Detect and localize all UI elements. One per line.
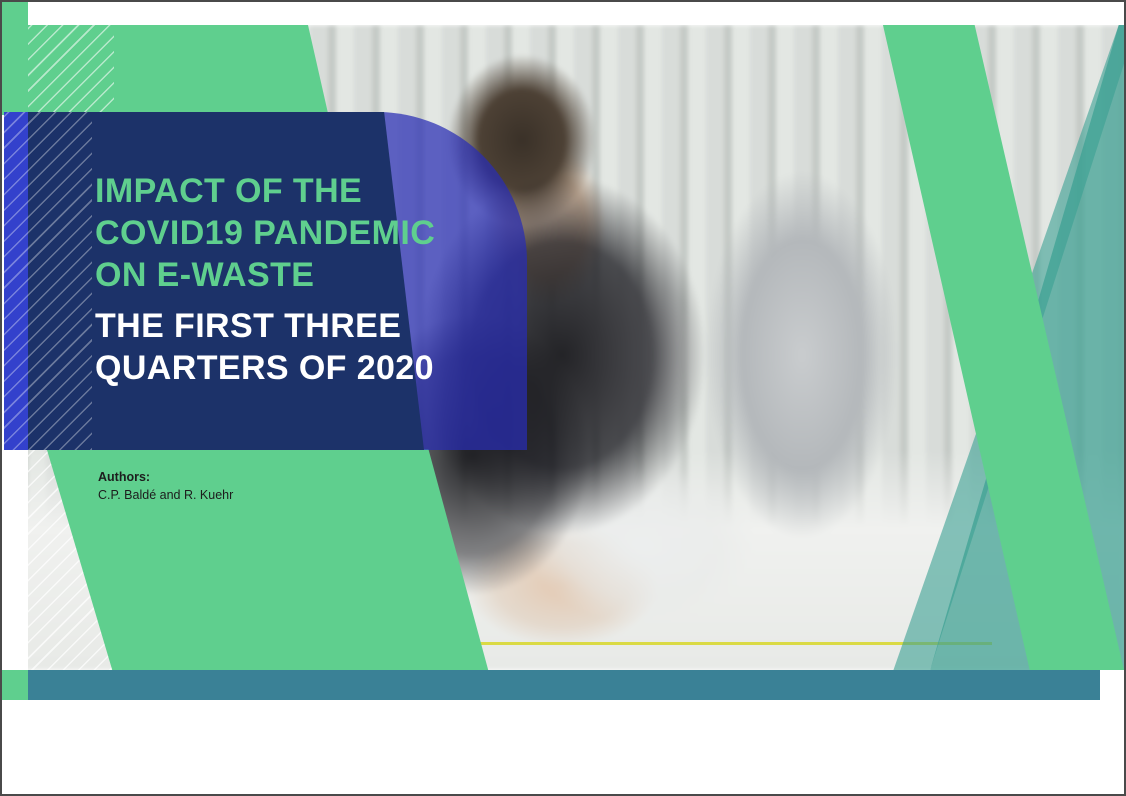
subtitle-line-2: QUARTERS OF 2020 bbox=[95, 347, 525, 389]
footer-logo-bar: unitar United Nations Institute for Trai… bbox=[2, 700, 1124, 794]
bottom-left-green-chip bbox=[2, 670, 28, 700]
title-line-1: IMPACT OF THE bbox=[95, 170, 525, 212]
subtitle-line-1: THE FIRST THREE bbox=[95, 305, 525, 347]
report-cover-page: IMPACT OF THE COVID19 PANDEMIC ON E-WAST… bbox=[0, 0, 1126, 796]
top-left-green-chip bbox=[2, 2, 28, 25]
authors-block: Authors: C.P. Baldé and R. Kuehr bbox=[98, 468, 233, 504]
authors-names: C.P. Baldé and R. Kuehr bbox=[98, 486, 233, 504]
bottom-teal-bar bbox=[28, 670, 1100, 700]
title-block-hatch bbox=[4, 112, 92, 450]
title-line-3: ON E-WASTE bbox=[95, 254, 525, 296]
page-title: IMPACT OF THE COVID19 PANDEMIC ON E-WAST… bbox=[95, 170, 525, 389]
decorative-hatch-top-left bbox=[28, 25, 114, 115]
authors-label: Authors: bbox=[98, 468, 233, 486]
top-white-strip bbox=[2, 2, 1124, 25]
title-line-2: COVID19 PANDEMIC bbox=[95, 212, 525, 254]
